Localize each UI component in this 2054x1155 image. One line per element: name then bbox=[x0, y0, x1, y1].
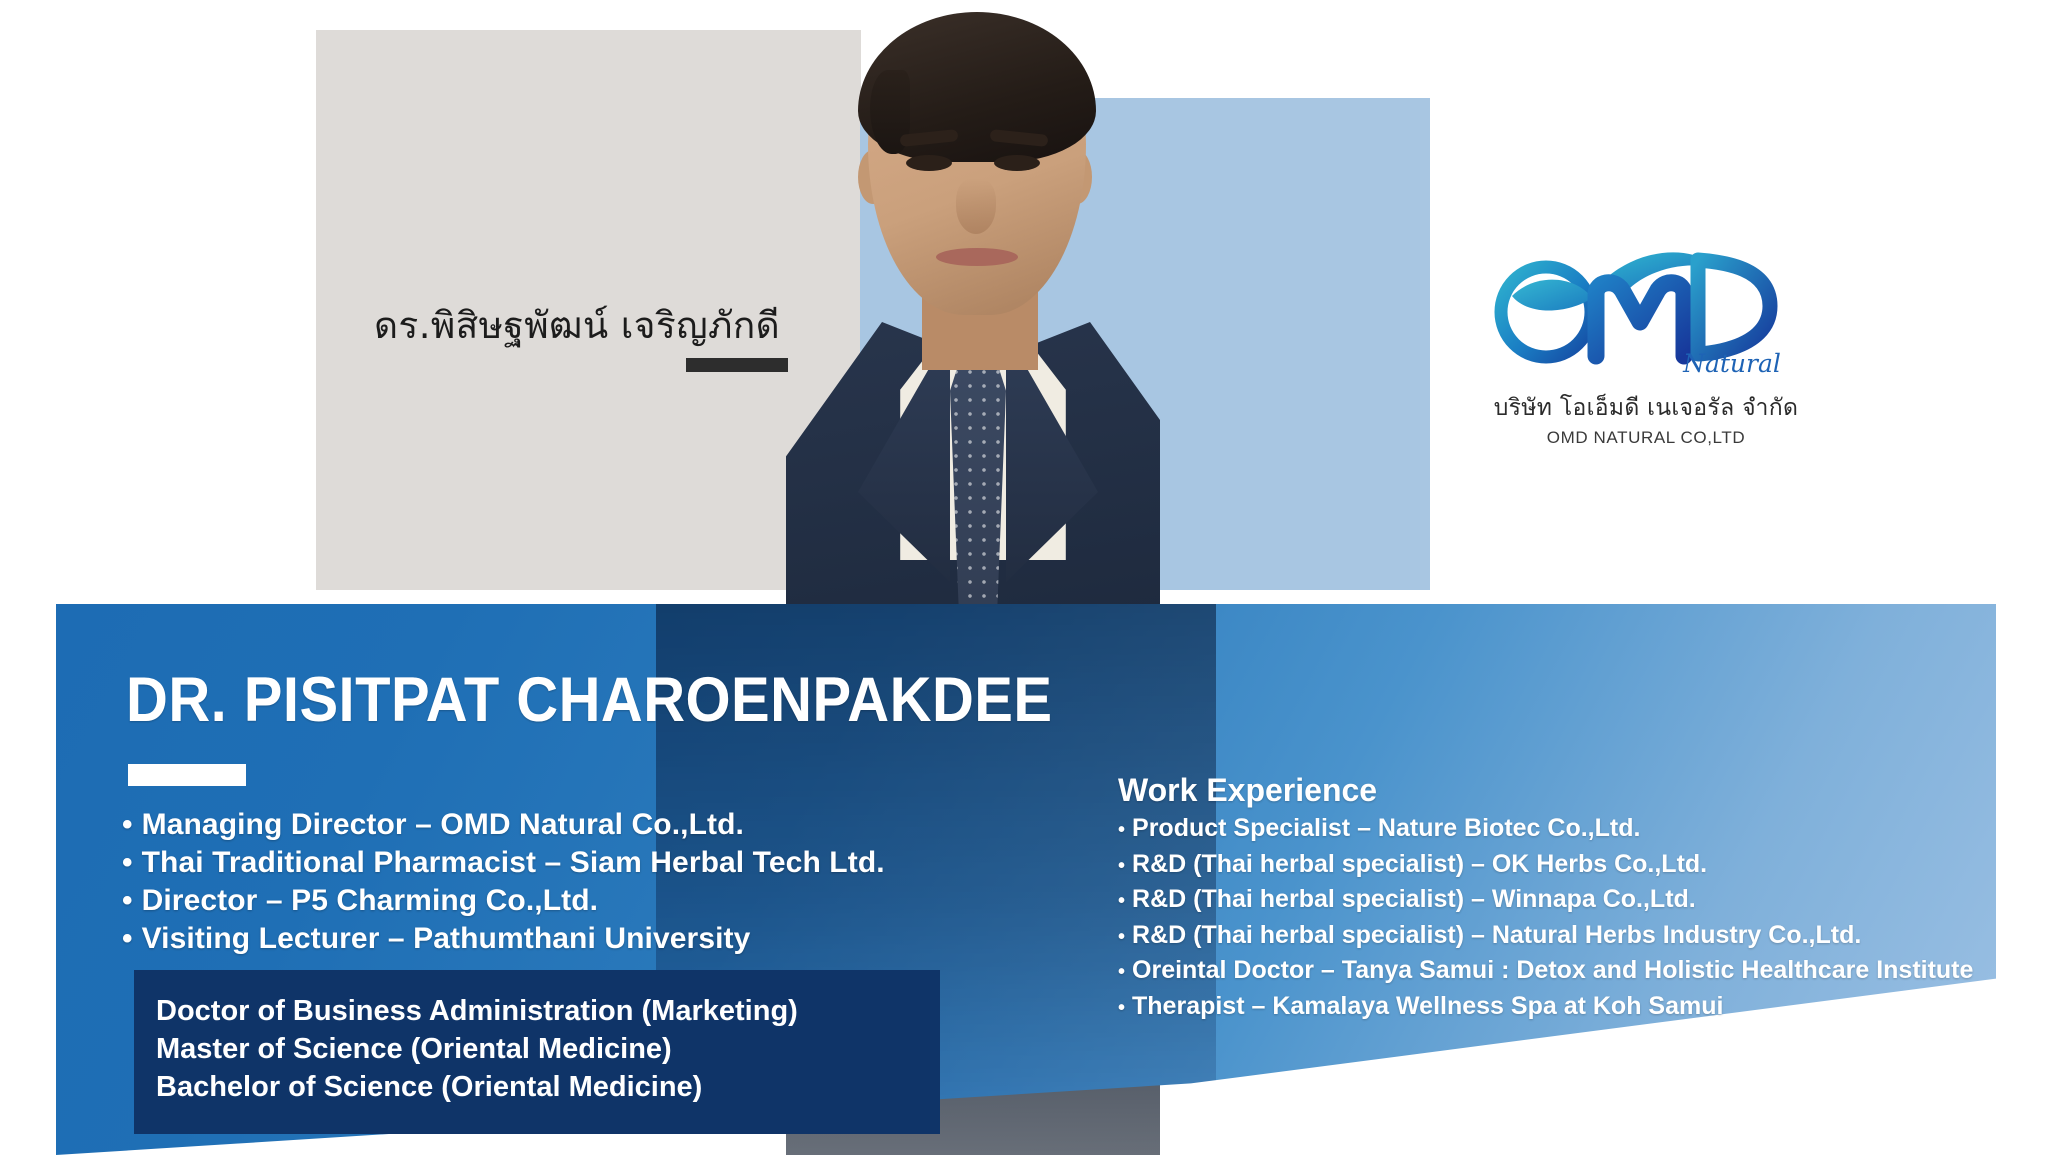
education-item: Bachelor of Science (Oriental Medicine) bbox=[156, 1068, 940, 1106]
list-item: •Product Specialist – Nature Biotec Co.,… bbox=[1118, 812, 2018, 848]
role-label: Visiting Lecturer – Pathumthani Universi… bbox=[142, 922, 751, 955]
bullet-icon: • bbox=[1118, 855, 1125, 877]
work-item-label: R&D (Thai herbal specialist) – OK Herbs … bbox=[1132, 850, 1707, 878]
bullet-icon: • bbox=[1118, 926, 1125, 948]
list-item: •Oreintal Doctor – Tanya Samui : Detox a… bbox=[1118, 954, 2018, 990]
work-experience-heading: Work Experience bbox=[1118, 770, 2018, 810]
education-item: Doctor of Business Administration (Marke… bbox=[156, 992, 940, 1030]
omd-natural-logo: Natural บริษัท โอเอ็มดี เนเจอรัล จำกัด O… bbox=[1476, 236, 1816, 451]
work-item-label: R&D (Thai herbal specialist) – Natural H… bbox=[1132, 921, 1861, 949]
hair bbox=[858, 12, 1096, 162]
bullet-icon: • bbox=[122, 884, 133, 917]
logo-company-english: OMD NATURAL CO,LTD bbox=[1476, 428, 1816, 448]
list-item: •R&D (Thai herbal specialist) – Natural … bbox=[1118, 919, 2018, 955]
roles-list: •Managing Director – OMD Natural Co.,Ltd… bbox=[122, 806, 1022, 958]
eye-right bbox=[994, 155, 1040, 171]
thai-name-text: ดร.พิสิษฐพัฒน์ เจริญภักดี bbox=[374, 296, 780, 355]
work-experience-list: •Product Specialist – Nature Biotec Co.,… bbox=[1118, 812, 2018, 1026]
work-item-label: Therapist – Kamalaya Wellness Spa at Koh… bbox=[1132, 992, 1723, 1020]
profile-card: ดร.พิสิษฐพัฒน์ เจริญภักดี bbox=[0, 0, 2054, 1155]
bullet-icon: • bbox=[1118, 819, 1125, 841]
bullet-icon: • bbox=[1118, 961, 1125, 983]
role-label: Managing Director – OMD Natural Co.,Ltd. bbox=[142, 808, 744, 841]
bullet-icon: • bbox=[122, 922, 133, 955]
list-item: •Thai Traditional Pharmacist – Siam Herb… bbox=[122, 844, 1022, 882]
eye-left bbox=[906, 155, 952, 171]
work-item-label: Product Specialist – Nature Biotec Co.,L… bbox=[1132, 814, 1640, 842]
title-underline-accent bbox=[128, 764, 246, 786]
list-item: •Managing Director – OMD Natural Co.,Ltd… bbox=[122, 806, 1022, 844]
bullet-icon: • bbox=[1118, 997, 1125, 1019]
bullet-icon: • bbox=[122, 846, 133, 879]
list-item: •R&D (Thai herbal specialist) – OK Herbs… bbox=[1118, 848, 2018, 884]
work-experience-section: Work Experience •Product Specialist – Na… bbox=[1118, 770, 2018, 1026]
logo-company-thai: บริษัท โอเอ็มดี เนเจอรัล จำกัด bbox=[1476, 390, 1816, 426]
education-item: Master of Science (Oriental Medicine) bbox=[156, 1030, 940, 1068]
list-item: •R&D (Thai herbal specialist) – Winnapa … bbox=[1118, 883, 2018, 919]
role-label: Director – P5 Charming Co.,Ltd. bbox=[142, 884, 599, 917]
education-box: Doctor of Business Administration (Marke… bbox=[134, 970, 940, 1134]
list-item: •Visiting Lecturer – Pathumthani Univers… bbox=[122, 920, 1022, 958]
svg-text:Natural: Natural bbox=[1682, 349, 1781, 378]
omd-logo-mark: Natural bbox=[1484, 236, 1808, 386]
work-item-label: R&D (Thai herbal specialist) – Winnapa C… bbox=[1132, 885, 1696, 913]
nose bbox=[956, 178, 996, 234]
list-item: •Director – P5 Charming Co.,Ltd. bbox=[122, 882, 1022, 920]
list-item: •Therapist – Kamalaya Wellness Spa at Ko… bbox=[1118, 990, 2018, 1026]
role-label: Thai Traditional Pharmacist – Siam Herba… bbox=[142, 846, 885, 879]
work-item-label: Oreintal Doctor – Tanya Samui : Detox an… bbox=[1132, 956, 1973, 984]
bullet-icon: • bbox=[1118, 890, 1125, 912]
page-title: DR. PISITPAT CHAROENPAKDEE bbox=[126, 664, 1053, 736]
mouth bbox=[936, 248, 1018, 266]
bullet-icon: • bbox=[122, 808, 133, 841]
thai-name-underline bbox=[686, 358, 788, 372]
